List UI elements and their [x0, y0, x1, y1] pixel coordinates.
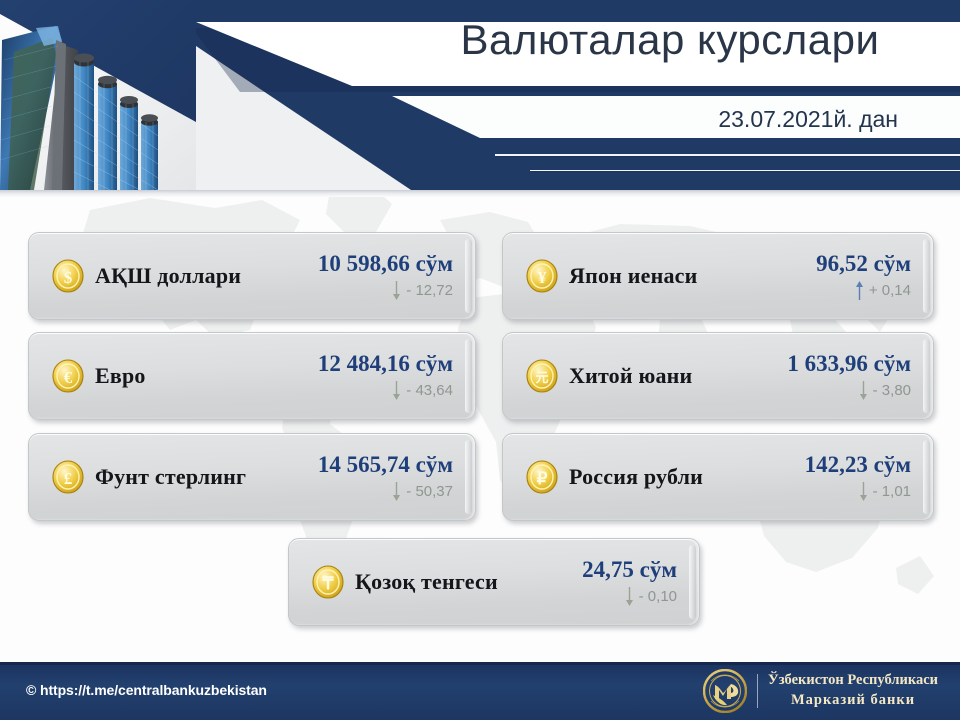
slide-header: Валюталар курслари 23.07.2021й. дан: [0, 0, 960, 196]
currency-value-group: 96,52 сўм + 0,14: [816, 252, 925, 300]
currency-value-group: 1 633,96 сўм - 3,80: [787, 352, 925, 400]
currency-rate: 10 598,66 сўм: [318, 252, 453, 276]
currency-card-usd[interactable]: $ АҚШ доллари 10 598,66 сўм - 12,72: [28, 232, 476, 320]
currency-rate: 142,23 сўм: [805, 453, 911, 477]
arrow-down-icon: [859, 482, 868, 501]
arrow-down-icon: [392, 381, 401, 400]
currency-card-eur[interactable]: € Евро 12 484,16 сўм - 43,64: [28, 332, 476, 420]
currency-rate: 1 633,96 сўм: [787, 352, 911, 376]
svg-text:£: £: [64, 469, 73, 488]
currency-rates-slide: Валюталар курслари 23.07.2021й. дан $ АҚ…: [0, 0, 960, 720]
currency-value-group: 12 484,16 сўм - 43,64: [318, 352, 467, 400]
central-bank-logo-icon: [703, 669, 747, 713]
currency-delta-text: - 43,64: [406, 383, 453, 398]
currency-delta: + 0,14: [855, 281, 911, 300]
currency-card-grid: $ АҚШ доллари 10 598,66 сўм - 12,72 ¥: [0, 196, 960, 662]
currency-rate: 96,52 сўм: [816, 252, 911, 276]
svg-text:$: $: [64, 268, 73, 287]
coin-yen-icon: ¥: [525, 258, 559, 294]
currency-rate: 14 565,74 сўм: [318, 453, 453, 477]
currency-delta-text: - 50,37: [406, 484, 453, 499]
coin-pound-icon: £: [51, 459, 85, 495]
currency-card-rub[interactable]: ₽ Россия рубли 142,23 сўм - 1,01: [502, 433, 934, 521]
currency-delta: - 12,72: [392, 281, 453, 300]
coin-yuan-icon: 元: [525, 358, 559, 394]
currency-delta-text: - 1,01: [873, 484, 911, 499]
arrow-up-icon: [855, 281, 864, 300]
currency-value-group: 10 598,66 сўм - 12,72: [318, 252, 467, 300]
coin-tenge-icon: ₸: [311, 564, 345, 600]
currency-delta: - 1,01: [859, 482, 911, 501]
currency-rate: 12 484,16 сўм: [318, 352, 453, 376]
page-title: Валюталар курслари: [420, 16, 920, 64]
currency-card-jpy[interactable]: ¥ Япон иенаси 96,52 сўм + 0,14: [502, 232, 934, 320]
bank-name-line1: Ўзбекистон Республикаси: [768, 671, 938, 691]
svg-text:₸: ₸: [322, 574, 334, 593]
bank-brand-block: Ўзбекистон Республикаси Марказий банки: [703, 669, 938, 713]
currency-delta: - 50,37: [392, 482, 453, 501]
currency-card-gbp[interactable]: £ Фунт стерлинг 14 565,74 сўм - 50,37: [28, 433, 476, 521]
rates-date: 23.07.2021й. дан: [718, 106, 898, 133]
brand-divider: [757, 674, 758, 708]
coin-dollar-icon: $: [51, 258, 85, 294]
bank-name: Ўзбекистон Республикаси Марказий банки: [768, 671, 938, 710]
currency-value-group: 142,23 сўм - 1,01: [805, 453, 925, 501]
currency-name: Хитой юани: [569, 363, 692, 389]
currency-delta: - 0,10: [625, 587, 677, 606]
arrow-down-icon: [859, 381, 868, 400]
bank-building-photo: [0, 0, 196, 190]
currency-delta-text: - 0,10: [639, 589, 677, 604]
svg-text:¥: ¥: [538, 268, 547, 287]
svg-text:€: €: [64, 368, 73, 387]
currency-rate: 24,75 сўм: [582, 558, 677, 582]
currency-value-group: 24,75 сўм - 0,10: [582, 558, 691, 606]
currency-card-kzt[interactable]: ₸ Қозоқ тенгеси 24,75 сўм - 0,10: [288, 538, 700, 626]
currency-delta: - 3,80: [859, 381, 911, 400]
currency-name: АҚШ доллари: [95, 263, 241, 289]
currency-name: Япон иенаси: [569, 263, 698, 289]
arrow-down-icon: [392, 281, 401, 300]
slide-footer: © https://t.me/centralbankuzbekistan: [0, 662, 960, 720]
header-bottom-edge: [0, 190, 960, 197]
coin-euro-icon: €: [51, 358, 85, 394]
svg-text:元: 元: [535, 370, 548, 385]
arrow-down-icon: [625, 587, 634, 606]
currency-delta-text: + 0,14: [869, 283, 911, 298]
header-rule-1: [495, 154, 960, 156]
bank-name-line2: Марказий банки: [768, 691, 938, 711]
currency-name: Қозоқ тенгеси: [355, 569, 498, 595]
currency-delta-text: - 3,80: [873, 383, 911, 398]
currency-name: Фунт стерлинг: [95, 464, 246, 490]
svg-text:₽: ₽: [537, 469, 548, 488]
currency-name: Евро: [95, 363, 146, 389]
currency-value-group: 14 565,74 сўм - 50,37: [318, 453, 467, 501]
currency-card-cny[interactable]: 元 Хитой юани 1 633,96 сўм - 3,80: [502, 332, 934, 420]
currency-name: Россия рубли: [569, 464, 703, 490]
currency-delta: - 43,64: [392, 381, 453, 400]
currency-delta-text: - 12,72: [406, 283, 453, 298]
arrow-down-icon: [392, 482, 401, 501]
telegram-channel-link[interactable]: © https://t.me/centralbankuzbekistan: [26, 682, 267, 698]
header-rule-2: [530, 170, 960, 171]
footer-top-rule: [0, 662, 960, 665]
coin-ruble-icon: ₽: [525, 459, 559, 495]
